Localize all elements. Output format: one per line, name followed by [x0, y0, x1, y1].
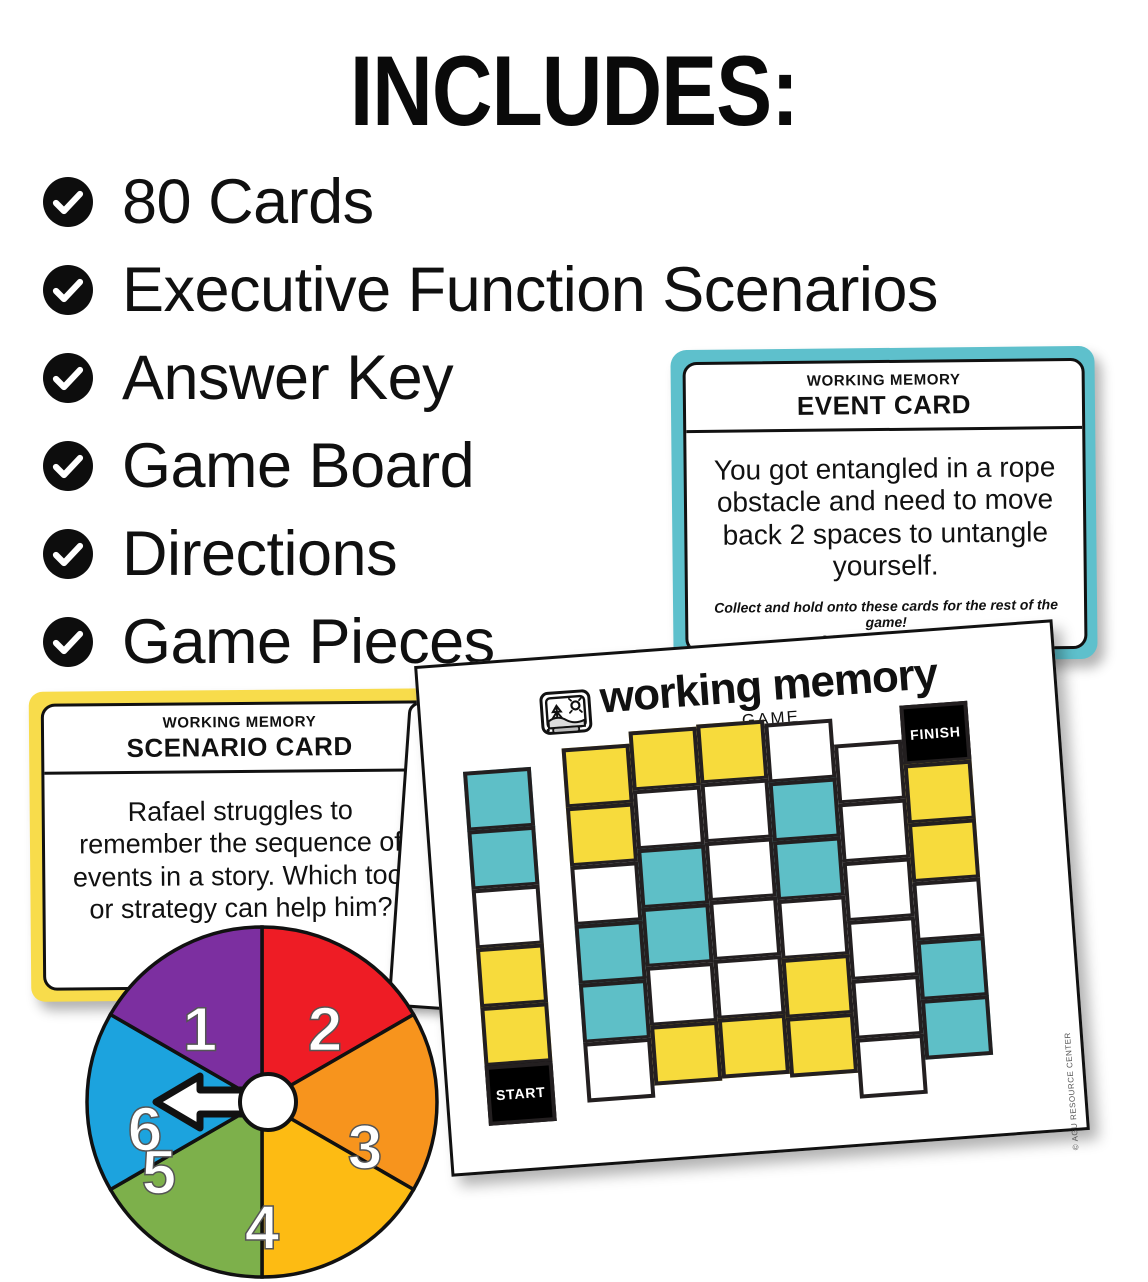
spinner-wheel[interactable]: 1 2 3 4 5 6: [82, 922, 442, 1282]
spinner-label-4: 4: [245, 1193, 280, 1262]
event-card-type: EVENT CARD: [692, 388, 1076, 423]
board-tile[interactable]: [838, 798, 910, 863]
spinner-label-2: 2: [308, 995, 342, 1064]
board-tile[interactable]: [713, 955, 785, 1020]
list-item-label: Game Board: [122, 430, 474, 502]
board-tile[interactable]: [641, 903, 713, 968]
board-tile[interactable]: [637, 844, 709, 909]
scenario-card-text: Rafael struggles to remember the sequenc…: [67, 793, 415, 926]
scenario-card-type: SCENARIO CARD: [50, 730, 429, 764]
spinner-hub[interactable]: [240, 1074, 296, 1130]
board-tile[interactable]: [562, 744, 634, 809]
board-tile[interactable]: [856, 1034, 928, 1099]
board-tile[interactable]: [917, 936, 989, 1001]
event-card: WORKING MEMORY EVENT CARD You got entang…: [670, 346, 1097, 663]
board-tile[interactable]: [463, 767, 535, 832]
board-tile[interactable]: [912, 877, 984, 942]
board-tile[interactable]: [782, 954, 854, 1019]
list-item-label: Executive Function Scenarios: [122, 254, 938, 326]
page-title: INCLUDES:: [0, 34, 1148, 148]
game-board-credit: © AGU RESOURCE CENTER: [1063, 1032, 1081, 1151]
board-tile[interactable]: [921, 995, 993, 1060]
board-tile[interactable]: [847, 916, 919, 981]
board-tile[interactable]: [566, 802, 638, 867]
board-tile[interactable]: [646, 962, 718, 1027]
spinner-label-1: 1: [183, 995, 217, 1064]
list-item: Executive Function Scenarios: [42, 246, 1102, 334]
board-tile[interactable]: [773, 836, 845, 901]
game-board-grid: START: [461, 703, 1050, 1153]
list-item-label: 80 Cards: [122, 166, 374, 238]
board-tile[interactable]: [843, 857, 915, 922]
start-label: START: [495, 1084, 546, 1104]
check-circle-icon: [42, 176, 94, 228]
list-item-label: Answer Key: [122, 342, 453, 414]
board-tile[interactable]: [633, 785, 705, 850]
board-tile[interactable]: [904, 760, 976, 825]
board-tile[interactable]: [834, 740, 906, 805]
board-tile[interactable]: [908, 818, 980, 883]
board-tile[interactable]: [764, 719, 836, 784]
game-board: working memory GAME START: [414, 619, 1090, 1176]
board-tile[interactable]: [718, 1014, 790, 1079]
check-circle-icon: [42, 352, 94, 404]
scenario-card-kicker: WORKING MEMORY: [50, 712, 429, 732]
board-tile[interactable]: [570, 861, 642, 926]
board-tile[interactable]: [480, 1002, 552, 1067]
list-item-label: Directions: [122, 518, 397, 590]
event-card-text: You got entangled in a rope obstacle and…: [708, 451, 1061, 585]
board-tile-start[interactable]: START: [485, 1061, 557, 1126]
board-tile[interactable]: [777, 895, 849, 960]
event-card-header: WORKING MEMORY EVENT CARD: [686, 361, 1083, 433]
board-tile[interactable]: [583, 1038, 655, 1103]
board-tile[interactable]: [696, 720, 768, 785]
board-tile[interactable]: [786, 1013, 858, 1078]
board-tile[interactable]: [709, 896, 781, 961]
check-circle-icon: [42, 264, 94, 316]
board-tile[interactable]: [476, 943, 548, 1008]
board-tile[interactable]: [472, 885, 544, 950]
board-tile[interactable]: [700, 778, 772, 843]
board-tile[interactable]: [467, 826, 539, 891]
board-tile[interactable]: [650, 1021, 722, 1086]
board-tile[interactable]: [579, 979, 651, 1044]
check-circle-icon: [42, 528, 94, 580]
check-circle-icon: [42, 616, 94, 668]
check-circle-icon: [42, 440, 94, 492]
board-tile-finish[interactable]: FINISH: [899, 701, 971, 766]
board-tile[interactable]: [769, 777, 841, 842]
board-tile[interactable]: [851, 975, 923, 1040]
list-item: 80 Cards: [42, 158, 1102, 246]
finish-label: FINISH: [910, 723, 962, 743]
scenario-card-header: WORKING MEMORY SCENARIO CARD 29: [44, 703, 436, 774]
board-tile[interactable]: [705, 837, 777, 902]
board-tile[interactable]: [575, 920, 647, 985]
board-column-1: START: [463, 767, 557, 1125]
board-tile[interactable]: [628, 727, 700, 792]
